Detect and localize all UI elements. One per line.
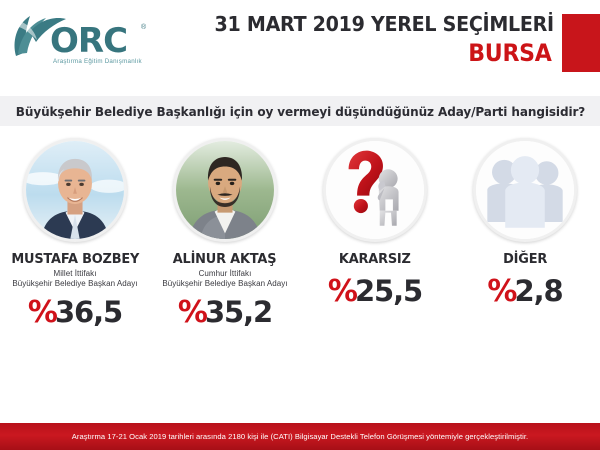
- three-people-silhouette-icon: [473, 138, 577, 242]
- brand-logo: ORC ® Araştırma Eğitim Danışmanlık: [10, 10, 170, 72]
- registered-mark: ®: [141, 24, 146, 31]
- percent-sign: %: [487, 274, 515, 309]
- candidate-party: Millet İttifakı: [54, 269, 97, 278]
- candidate-name: KARARSIZ: [339, 251, 411, 267]
- footer-note-bar: Araştırma 17-21 Ocak 2019 tarihleri aras…: [0, 423, 600, 450]
- percent-value: 2,8: [514, 274, 562, 308]
- candidate-party: Cumhur İttifakı: [199, 269, 252, 278]
- header-title-group: 31 MART 2019 YEREL SEÇİMLERİ BURSA: [270, 6, 600, 74]
- results-row: MUSTAFA BOZBEY Millet İttifakı Büyükşehi…: [0, 138, 600, 363]
- result-percentage: %35,2: [178, 298, 272, 328]
- brand-name: ORC: [50, 24, 127, 58]
- candidate-name: MUSTAFA BOZBEY: [11, 251, 139, 267]
- result-item-diger: DİĞER %2,8: [450, 138, 600, 363]
- city-name: BURSA: [469, 39, 552, 67]
- percent-value: 25,5: [355, 274, 422, 308]
- percent-sign: %: [328, 274, 356, 309]
- percent-sign: %: [28, 295, 56, 330]
- page-title: 31 MART 2019 YEREL SEÇİMLERİ: [215, 12, 554, 36]
- percent-value: 35,2: [205, 295, 272, 329]
- question-banner: Büyükşehir Belediye Başkanlığı için oy v…: [0, 96, 600, 126]
- candidate-name: DİĞER: [503, 251, 547, 267]
- brand-tagline: Araştırma Eğitim Danışmanlık: [53, 58, 142, 65]
- methodology-note: Araştırma 17-21 Ocak 2019 tarihleri aras…: [72, 432, 528, 441]
- candidate-photo-alinur-aktas: [173, 138, 277, 242]
- result-item-mustafa-bozbey: MUSTAFA BOZBEY Millet İttifakı Büyükşehi…: [0, 138, 150, 363]
- header: ORC ® Araştırma Eğitim Danışmanlık 31 MA…: [0, 0, 600, 86]
- result-item-kararsiz: KARARSIZ %25,5: [300, 138, 450, 363]
- candidate-name: ALİNUR AKTAŞ: [173, 251, 277, 267]
- result-percentage: %36,5: [28, 298, 122, 328]
- question-mark-thinking-icon: [323, 138, 427, 242]
- result-percentage: %25,5: [328, 277, 422, 307]
- candidate-role: Büyükşehir Belediye Başkan Adayı: [12, 279, 137, 288]
- header-accent-block: [562, 14, 600, 72]
- result-percentage: %2,8: [487, 277, 562, 307]
- result-item-alinur-aktas: ALİNUR AKTAŞ Cumhur İttifakı Büyükşehir …: [150, 138, 300, 363]
- question-text: Büyükşehir Belediye Başkanlığı için oy v…: [15, 104, 584, 119]
- percent-value: 36,5: [55, 295, 122, 329]
- candidate-photo-mustafa-bozbey: [23, 138, 127, 242]
- candidate-role: Büyükşehir Belediye Başkan Adayı: [162, 279, 287, 288]
- percent-sign: %: [178, 295, 206, 330]
